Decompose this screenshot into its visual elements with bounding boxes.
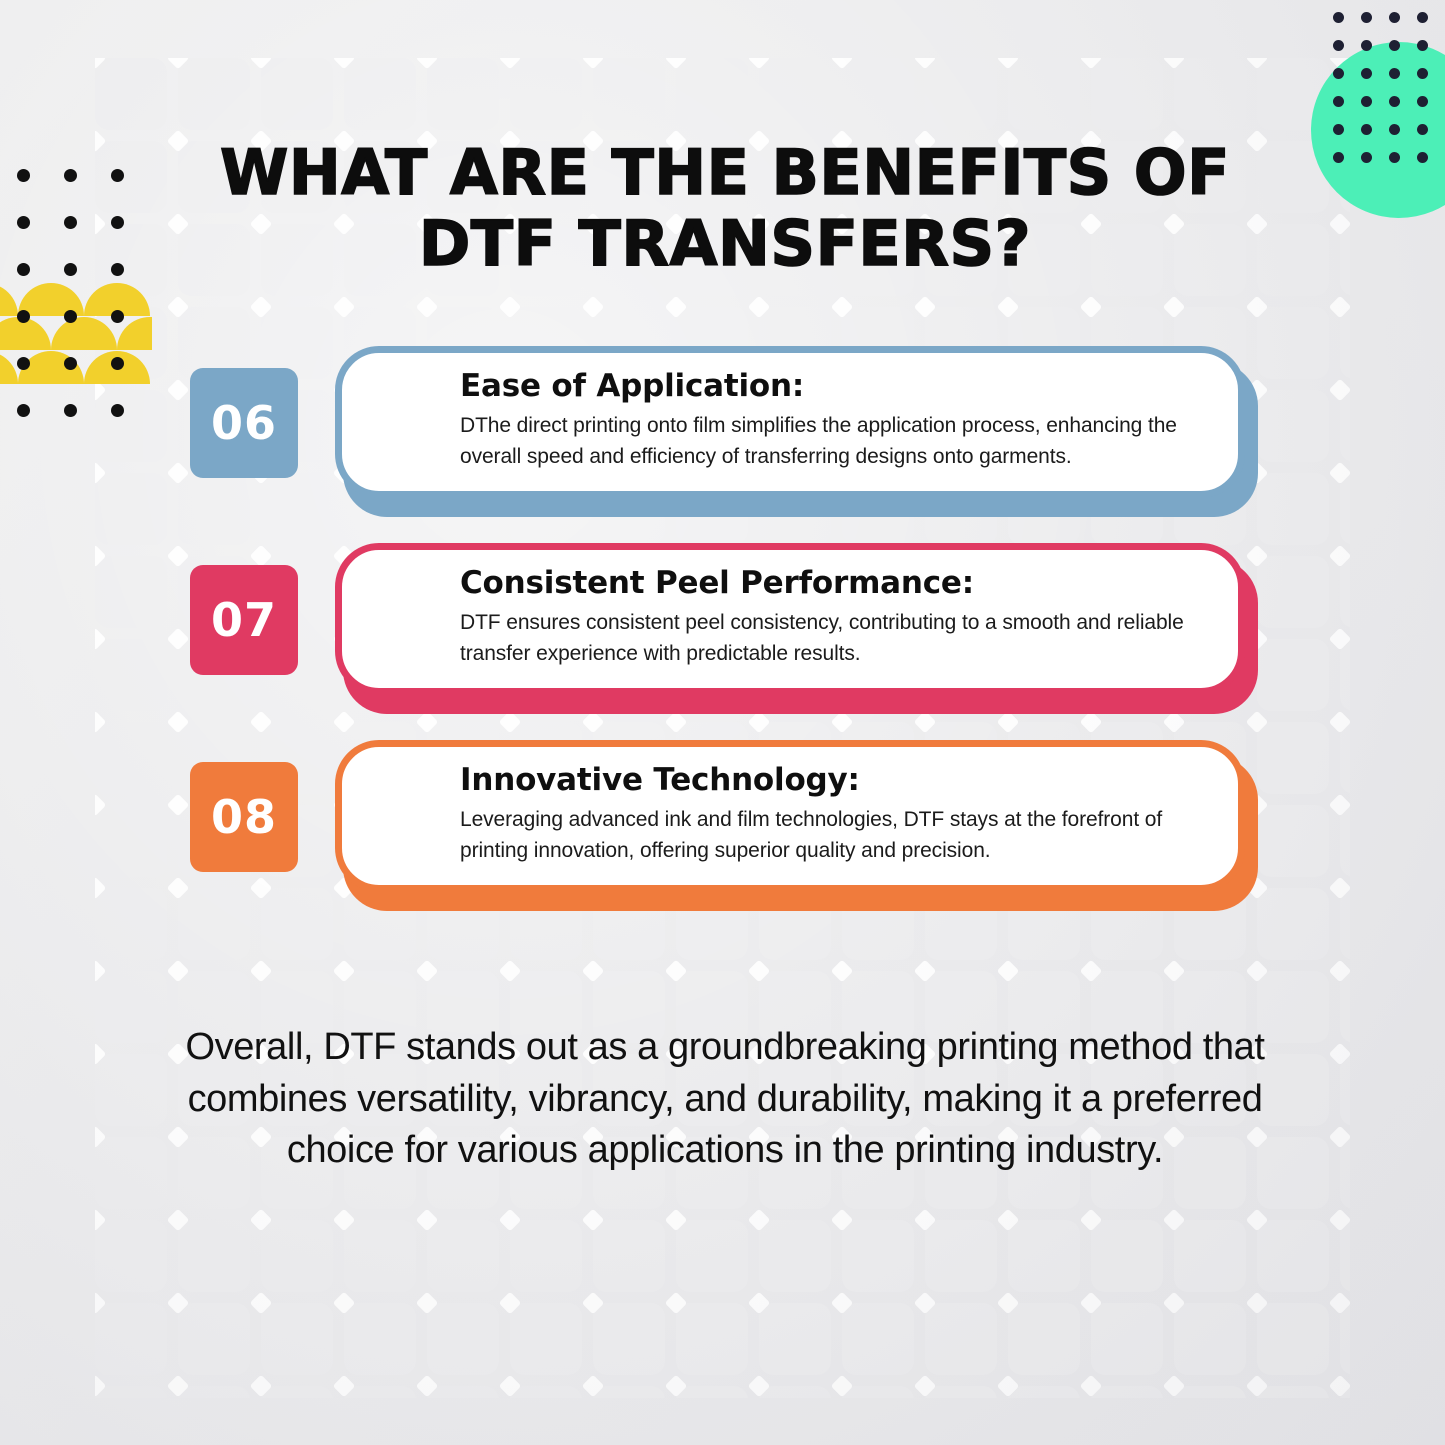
benefit-card-body-07: DTF ensures consistent peel consistency,… [460,608,1212,669]
benefit-number-badge-06: 06 [190,368,298,478]
closing-paragraph: Overall, DTF stands out as a groundbreak… [175,1022,1275,1177]
benefit-row-07: Consistent Peel Performance: DTF ensures… [188,537,1260,713]
benefit-card-title-06: Ease of Application: [460,369,1212,403]
benefit-card-title-07: Consistent Peel Performance: [460,566,1212,600]
benefit-card-body-06: DThe direct printing onto film simplifie… [460,411,1212,472]
left-dot-grid-decoration [8,160,149,442]
benefit-row-08: Innovative Technology: Leveraging advanc… [188,734,1260,910]
page-title: WHAT ARE THE BENEFITS OF DTF TRANSFERS? [190,138,1260,279]
benefit-number-badge-07: 07 [190,565,298,675]
infographic-canvas: WHAT ARE THE BENEFITS OF DTF TRANSFERS? … [0,0,1445,1445]
benefit-row-06: Ease of Application: DThe direct printin… [188,340,1260,516]
benefit-card-06[interactable]: Ease of Application: DThe direct printin… [335,346,1245,498]
benefit-card-08[interactable]: Innovative Technology: Leveraging advanc… [335,740,1245,892]
benefit-card-body-08: Leveraging advanced ink and film technol… [460,805,1212,866]
top-right-dot-grid-decoration [1325,4,1437,172]
benefit-card-title-08: Innovative Technology: [460,763,1212,797]
benefit-card-07[interactable]: Consistent Peel Performance: DTF ensures… [335,543,1245,695]
benefit-number-badge-08: 08 [190,762,298,872]
